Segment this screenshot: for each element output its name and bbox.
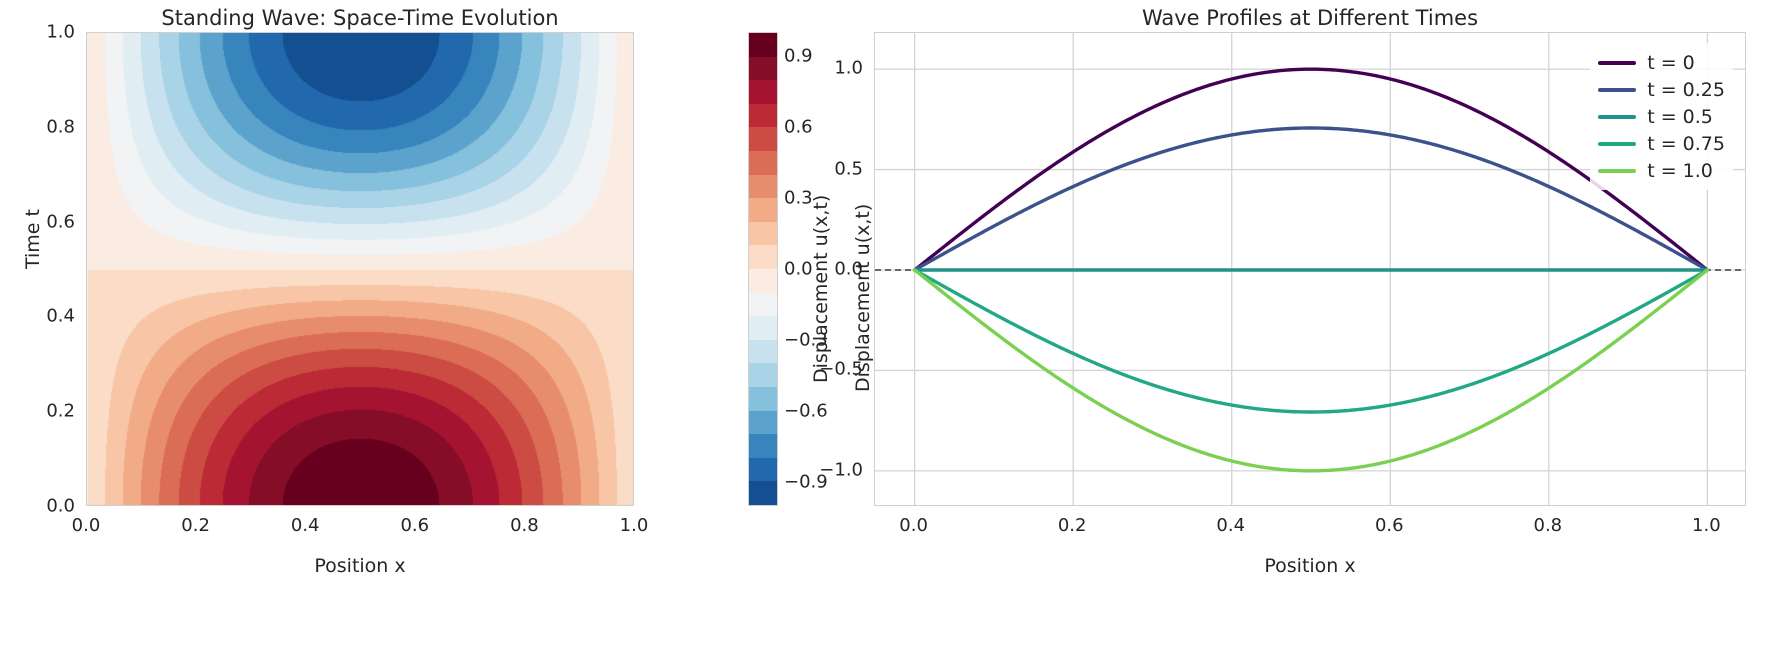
contour-plot-area [86,32,634,506]
left-y-tick: 0.4 [46,306,75,327]
legend-item[interactable]: t = 1.0 [1598,157,1725,184]
figure-canvas: Standing Wave: Space-Time Evolution 0.00… [0,0,1780,655]
left-panel-y-axis-label: Time t [22,209,44,269]
legend-color-swatch [1598,61,1636,65]
left-x-tick: 0.2 [181,515,210,536]
legend-color-swatch [1598,142,1636,146]
left-y-tick: 1.0 [46,22,75,43]
right-x-tick: 0.6 [1375,515,1404,536]
wave-profile-curve [915,128,1708,270]
left-y-tick: 0.6 [46,211,75,232]
right-y-tick: 1.0 [834,58,863,79]
colorbar-tick: 0.6 [784,116,813,137]
colorbar-segment [749,269,777,293]
legend-color-swatch [1598,169,1636,173]
right-y-tick: −1.0 [819,459,863,480]
colorbar-segment [749,293,777,317]
colorbar-segment [749,33,777,57]
left-x-tick: 0.4 [291,515,320,536]
legend-item[interactable]: t = 0.75 [1598,130,1725,157]
legend-color-swatch [1598,115,1636,119]
right-y-tick: 0.0 [834,259,863,280]
colorbar-segment [749,481,777,505]
colorbar-segment [749,340,777,364]
legend: t = 0t = 0.25t = 0.5t = 0.75t = 1.0 [1590,43,1733,190]
line-plot-area: t = 0t = 0.25t = 0.5t = 0.75t = 1.0 [874,32,1746,506]
left-y-tick: 0.8 [46,116,75,137]
colorbar-segment [749,57,777,81]
left-x-tick: 0.0 [72,515,101,536]
colorbar-segment [749,80,777,104]
legend-color-swatch [1598,88,1636,92]
legend-item-label: t = 0.75 [1647,133,1725,155]
colorbar [748,32,778,506]
colorbar-tick: 0.9 [784,45,813,66]
right-panel-x-axis-label: Position x [874,555,1746,577]
legend-item[interactable]: t = 0.25 [1598,76,1725,103]
right-x-tick: 0.2 [1058,515,1087,536]
legend-item-label: t = 0.25 [1647,79,1725,101]
left-x-tick: 0.6 [400,515,429,536]
right-x-tick: 0.8 [1533,515,1562,536]
colorbar-segment [749,245,777,269]
colorbar-segment [749,127,777,151]
left-x-tick: 0.8 [510,515,539,536]
colorbar-segment [749,434,777,458]
left-y-tick: 0.2 [46,401,75,422]
left-panel-x-axis-label: Position x [86,555,634,577]
colorbar-segment [749,104,777,128]
right-x-tick: 0.4 [1216,515,1245,536]
legend-item-label: t = 0.5 [1647,106,1713,128]
right-x-tick: 1.0 [1692,515,1721,536]
right-panel-y-axis-label: Displacement u(x,t) [810,195,832,383]
legend-item[interactable]: t = 0.5 [1598,103,1725,130]
colorbar-tick: 0.0 [784,259,813,280]
colorbar-segment [749,458,777,482]
colorbar-segment [749,411,777,435]
right-y-tick: 0.5 [834,158,863,179]
colorbar-tick: 0.3 [784,187,813,208]
wave-profile-curve [915,270,1708,412]
colorbar-segment [749,151,777,175]
legend-item-label: t = 1.0 [1647,160,1713,182]
contour-heatmap-canvas [87,33,634,506]
left-x-tick: 1.0 [620,515,649,536]
colorbar-segment [749,363,777,387]
colorbar-segment [749,316,777,340]
legend-item-label: t = 0 [1647,52,1695,74]
colorbar-segment [749,198,777,222]
colorbar-segment [749,222,777,246]
colorbar-segment [749,175,777,199]
colorbar-tick: −0.6 [784,401,828,422]
left-y-tick: 0.0 [46,496,75,517]
legend-item[interactable]: t = 0 [1598,49,1725,76]
left-panel-title: Standing Wave: Space-Time Evolution [86,6,634,30]
colorbar-segment [749,387,777,411]
right-x-tick: 0.0 [899,515,928,536]
right-panel-title: Wave Profiles at Different Times [874,6,1746,30]
